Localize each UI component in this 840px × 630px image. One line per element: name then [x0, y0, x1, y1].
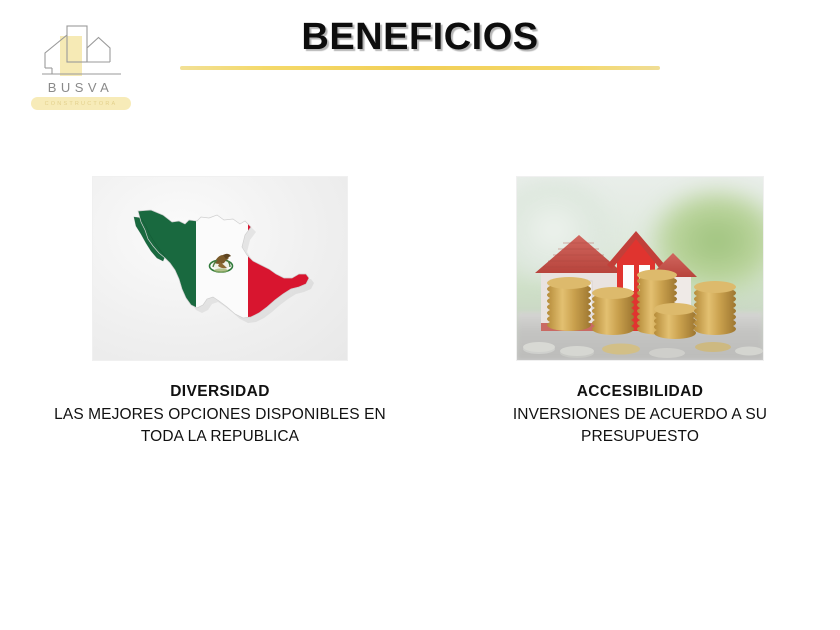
title-underline-rule	[180, 66, 660, 70]
page-title: BENEFICIOS	[0, 16, 840, 59]
caption-title: ACCESIBILIDAD	[452, 383, 828, 401]
mexico-map-flag-image	[92, 176, 348, 361]
benefit-column-accesibilidad: ACCESIBILIDAD INVERSIONES DE ACUERDO A S…	[452, 176, 828, 448]
logo-subtitle: Constructora	[45, 101, 118, 107]
caption-body: LAS MEJORES OPCIONES DISPONIBLES EN TODA…	[32, 404, 408, 448]
caption-body: INVERSIONES DE ACUERDO A SU PRESUPUESTO	[452, 404, 828, 448]
slide: BUSVA Constructora BENEFICIOS	[0, 0, 840, 630]
benefit-column-diversidad: DIVERSIDAD LAS MEJORES OPCIONES DISPONIB…	[32, 176, 408, 448]
coin-stacks-icon	[523, 270, 763, 359]
caption-title: DIVERSIDAD	[32, 383, 408, 401]
logo-subtitle-bar: Constructora	[31, 97, 131, 110]
logo-wordmark: BUSVA	[28, 80, 133, 95]
house-and-coins-image	[516, 176, 764, 361]
